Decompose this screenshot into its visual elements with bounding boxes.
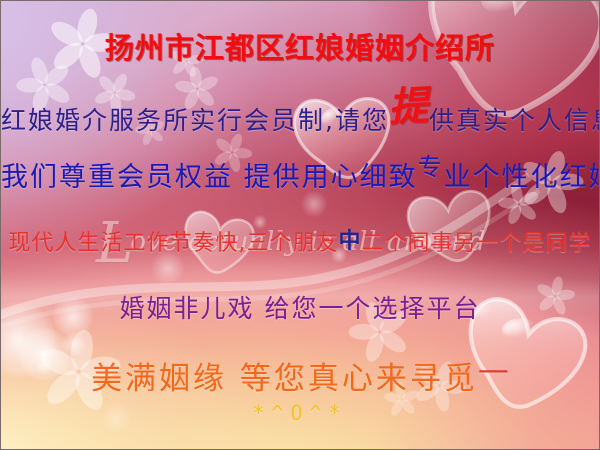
marriage-platform-line: 婚姻非儿戏 给您一个选择平台 (1, 289, 599, 325)
text-layer: 扬州市江都区红娘婚姻介绍所 红娘婚介服务所实行会员制,请您提供真实个人信息 我们… (1, 1, 599, 449)
service-promise-raised: 专 (418, 147, 444, 182)
service-promise-post: 业个性化红娘服务 (444, 162, 600, 193)
marriage-agency-banner: Love actually is all around 扬州市江都区红娘婚姻介绍… (0, 0, 600, 450)
modern-life-post: 二个同事另一个是同学 (362, 231, 592, 256)
page-title: 扬州市江都区红娘婚姻介绍所 (1, 25, 599, 67)
service-promise-pre: 我们尊重会员权益 提供用心细致 (1, 162, 418, 193)
happy-union-dash: — (478, 352, 509, 388)
happy-union-line: 美满姻缘 等您真心来寻觅— (1, 353, 599, 398)
membership-notice-post: 供真实个人信息 (429, 106, 600, 135)
modern-life-pre: 现代人生活工作节奏快,三个朋友 (8, 231, 338, 256)
happy-union-text: 美满姻缘 等您真心来寻觅 (91, 361, 478, 397)
modern-life-accent: 中 (338, 223, 361, 255)
service-promise-line: 我们尊重会员权益 提供用心细致专业个性化红娘服务 (1, 155, 599, 194)
membership-notice-highlight: 提 (386, 73, 431, 133)
emoticon: *^O^* (1, 401, 599, 425)
membership-notice-line: 红娘婚介服务所实行会员制,请您提供真实个人信息 (1, 83, 599, 141)
membership-notice-pre: 红娘婚介服务所实行会员制,请您 (1, 106, 389, 135)
modern-life-line: 现代人生活工作节奏快,三个朋友中二个同事另一个是同学 (1, 225, 599, 257)
